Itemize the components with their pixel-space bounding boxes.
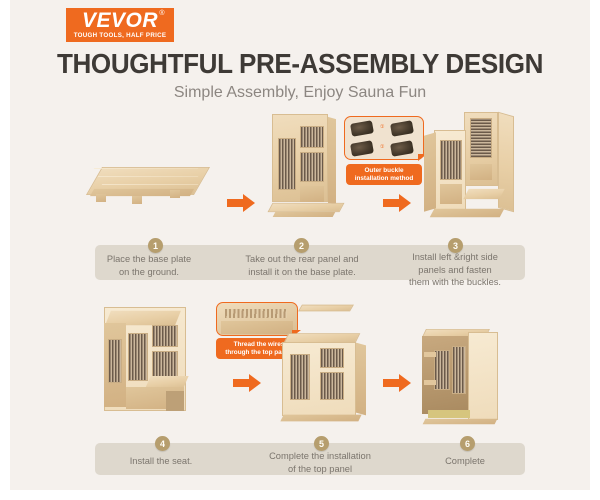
illustration-top-panel <box>276 330 372 426</box>
step-badge-6: 6 <box>460 436 475 451</box>
vevor-logo: VEVOR® TOUGH TOOLS, HALF PRICE <box>66 8 174 42</box>
brand-name: VEVOR® <box>82 10 158 31</box>
illustration-base-plate <box>88 158 210 220</box>
page-title: THOUGHTFUL PRE-ASSEMBLY DESIGN <box>30 48 569 80</box>
step-caption-3: Install left &right side panels and fast… <box>395 251 515 289</box>
illustration-finished-sauna <box>414 326 518 430</box>
step-caption-1: Place the base plate on the ground. <box>95 253 203 278</box>
arrow-right-icon <box>382 372 412 394</box>
infographic-canvas: VEVOR® TOUGH TOOLS, HALF PRICE THOUGHTFU… <box>10 0 590 490</box>
illustration-top-rail-piece <box>300 300 356 316</box>
callout-buckle: ① ① Outer buckle installation method <box>344 116 432 188</box>
step-caption-4: Install the seat. <box>106 455 216 468</box>
callout-buckle-image: ① ① <box>344 116 424 160</box>
buckle-icon <box>350 120 374 137</box>
illustration-side-panels <box>420 112 530 224</box>
step-caption-6: Complete <box>410 455 520 468</box>
buckle-marker: ① <box>380 124 384 130</box>
page-subtitle: Simple Assembly, Enjoy Sauna Fun <box>10 84 590 102</box>
brand-name-text: VEVOR <box>82 9 158 32</box>
arrow-right-icon <box>382 192 412 214</box>
brand-tagline: TOUGH TOOLS, HALF PRICE <box>74 33 167 39</box>
wire-strip <box>225 309 287 318</box>
illustration-seat-interior <box>96 303 200 423</box>
step-caption-2: Take out the rear panel and install it o… <box>232 253 372 278</box>
step-caption-5: Complete the installation of the top pan… <box>250 450 390 475</box>
step-badge-5: 5 <box>314 436 329 451</box>
registered-mark: ® <box>159 10 165 17</box>
buckle-icon <box>350 140 374 157</box>
callout-buckle-label: Outer buckle installation method <box>346 164 422 185</box>
step-badge-2: 2 <box>294 238 309 253</box>
arrow-right-icon <box>232 372 262 394</box>
step-badge-4: 4 <box>155 436 170 451</box>
step-badge-1: 1 <box>148 238 163 253</box>
buckle-marker: ① <box>380 144 384 150</box>
infographic-root: VEVOR® TOUGH TOOLS, HALF PRICE THOUGHTFU… <box>0 0 600 500</box>
illustration-rear-panel-on-base <box>264 114 348 222</box>
buckle-icon <box>390 120 414 137</box>
buckle-icon <box>390 140 414 157</box>
arrow-right-icon <box>226 192 256 214</box>
